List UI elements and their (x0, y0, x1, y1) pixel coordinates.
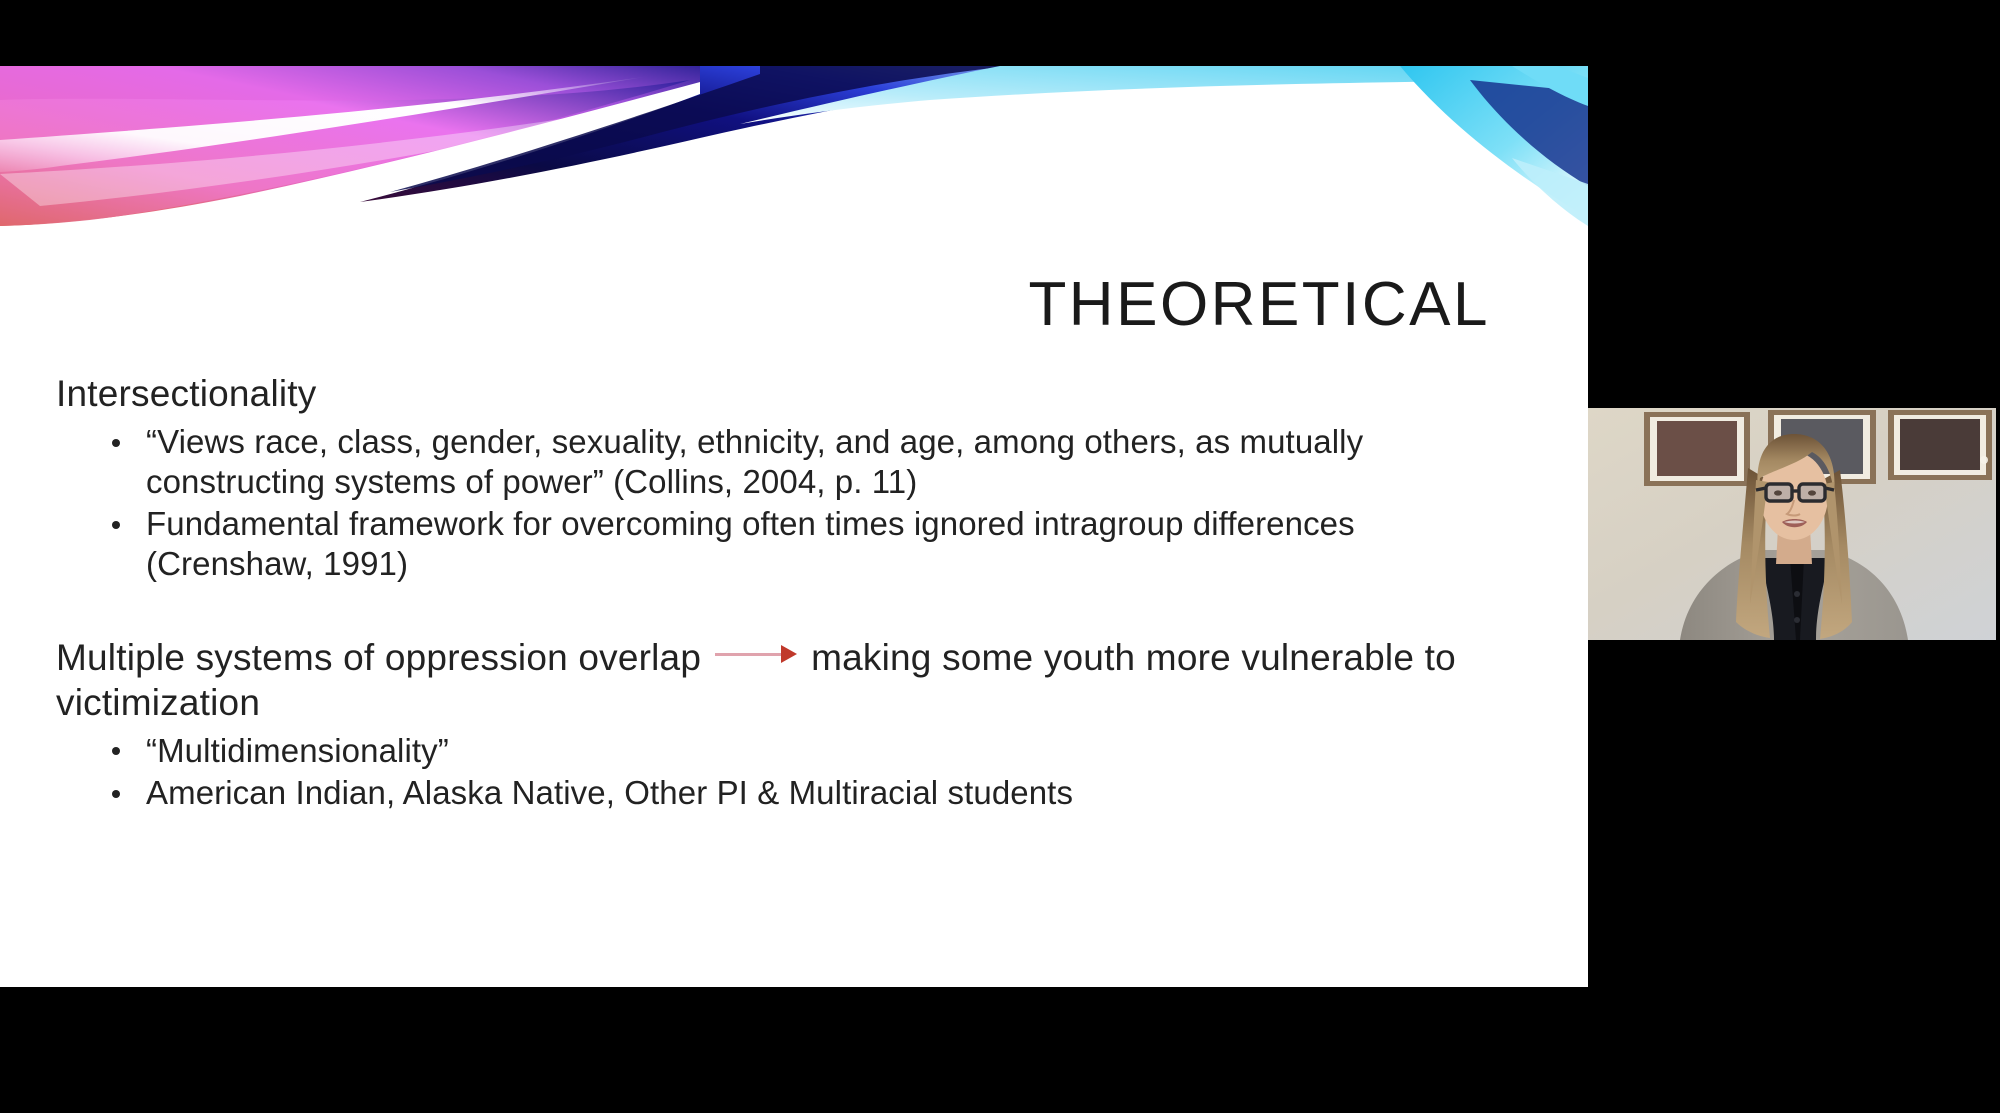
presenter-video-thumbnail[interactable] (1588, 408, 1996, 640)
list-item-text: American Indian, Alaska Native, Other PI… (146, 774, 1073, 811)
heading-text-after-arrow: making some youth more vulnerable to (811, 635, 1456, 680)
bullet-dot-icon (112, 790, 120, 798)
heading-text-wrap-line: victimization (56, 680, 1486, 725)
arrow-shaft (715, 653, 781, 656)
list-item-text: Fundamental framework for overcoming oft… (146, 505, 1355, 582)
presentation-slide: THEORETICAL Intersectionality “Views rac… (0, 66, 1588, 987)
bullet-list-multiple-systems: “Multidimensionality” American Indian, A… (104, 731, 1486, 813)
right-arrow-icon (715, 645, 797, 663)
section-heading-multiple-systems: Multiple systems of oppression overlap m… (56, 635, 1486, 725)
list-item-text: “Multidimensionality” (146, 732, 449, 769)
bullet-dot-icon (112, 521, 120, 529)
arrow-head (781, 645, 797, 663)
bullet-list-intersectionality: “Views race, class, gender, sexuality, e… (104, 422, 1486, 583)
section-heading-intersectionality: Intersectionality (56, 371, 1486, 416)
list-item-text: “Views race, class, gender, sexuality, e… (146, 423, 1363, 500)
section-spacer (56, 587, 1486, 635)
list-item: “Multidimensionality” (104, 731, 1486, 771)
slide-body: Intersectionality “Views race, class, ge… (56, 371, 1486, 816)
heading-text-before-arrow: Multiple systems of oppression overlap (56, 635, 701, 680)
list-item: American Indian, Alaska Native, Other PI… (104, 773, 1486, 813)
list-item: “Views race, class, gender, sexuality, e… (104, 422, 1486, 501)
screen-share-region: THEORETICAL Intersectionality “Views rac… (0, 0, 2000, 1113)
slide-decorative-swoosh-banner (0, 66, 1588, 226)
slide-title: THEORETICAL (0, 274, 1490, 336)
bullet-dot-icon (112, 439, 120, 447)
list-item: Fundamental framework for overcoming oft… (104, 504, 1486, 583)
bullet-dot-icon (112, 747, 120, 755)
